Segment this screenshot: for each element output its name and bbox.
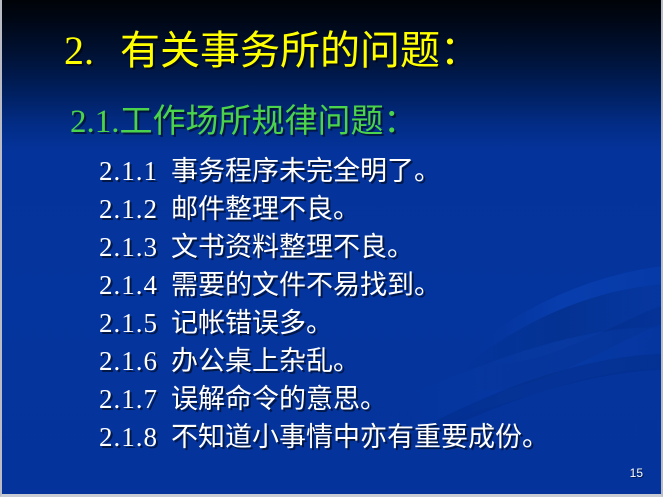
subtitle-number: 2.1. xyxy=(70,104,120,140)
list-item: 2.1.7误解命令的意思。 xyxy=(99,380,659,418)
list-item-index: 2.1.8 xyxy=(99,418,158,456)
list-item-index: 2.1.1 xyxy=(99,152,158,190)
list-item-label: 不知道小事情中亦有重要成份。 xyxy=(171,422,549,452)
title-text: 有关事务所的问题： xyxy=(120,28,480,73)
list-item-label: 误解命令的意思。 xyxy=(171,384,387,414)
title-number: 2. xyxy=(64,28,94,73)
list-item: 2.1.4需要的文件不易找到。 xyxy=(99,266,659,304)
list-item-label: 需要的文件不易找到。 xyxy=(171,270,441,300)
list-item-label: 邮件整理不良。 xyxy=(171,194,360,224)
list-item: 2.1.8不知道小事情中亦有重要成份。 xyxy=(99,418,659,456)
list-item-label: 记帐错误多。 xyxy=(171,308,333,338)
list-item-index: 2.1.7 xyxy=(99,380,158,418)
list-item-index: 2.1.5 xyxy=(99,304,158,342)
list-item: 2.1.6办公桌上杂乱。 xyxy=(99,342,659,380)
list-item: 2.1.3文书资料整理不良。 xyxy=(99,228,659,266)
section-subtitle: 2.1.工作场所规律问题： xyxy=(70,103,417,141)
subtitle-text: 工作场所规律问题： xyxy=(120,104,417,140)
page-title: 2.有关事务所的问题： xyxy=(64,28,654,74)
list-item-index: 2.1.2 xyxy=(99,190,158,228)
list-item-label: 文书资料整理不良。 xyxy=(171,232,414,262)
presentation-slide: 2.有关事务所的问题： 2.1.工作场所规律问题： 2.1.1事务程序未完全明了… xyxy=(0,0,663,497)
list-item-label: 事务程序未完全明了。 xyxy=(171,156,441,186)
list-item: 2.1.2邮件整理不良。 xyxy=(99,190,659,228)
list-item-label: 办公桌上杂乱。 xyxy=(171,346,360,376)
page-number: 15 xyxy=(630,466,643,480)
list-item: 2.1.5记帐错误多。 xyxy=(99,304,659,342)
list-item: 2.1.1事务程序未完全明了。 xyxy=(99,152,659,190)
list-item-index: 2.1.6 xyxy=(99,342,158,380)
list-item-index: 2.1.3 xyxy=(99,228,158,266)
list-item-index: 2.1.4 xyxy=(99,266,158,304)
bullet-list: 2.1.1事务程序未完全明了。 2.1.2邮件整理不良。 2.1.3文书资料整理… xyxy=(99,152,659,456)
